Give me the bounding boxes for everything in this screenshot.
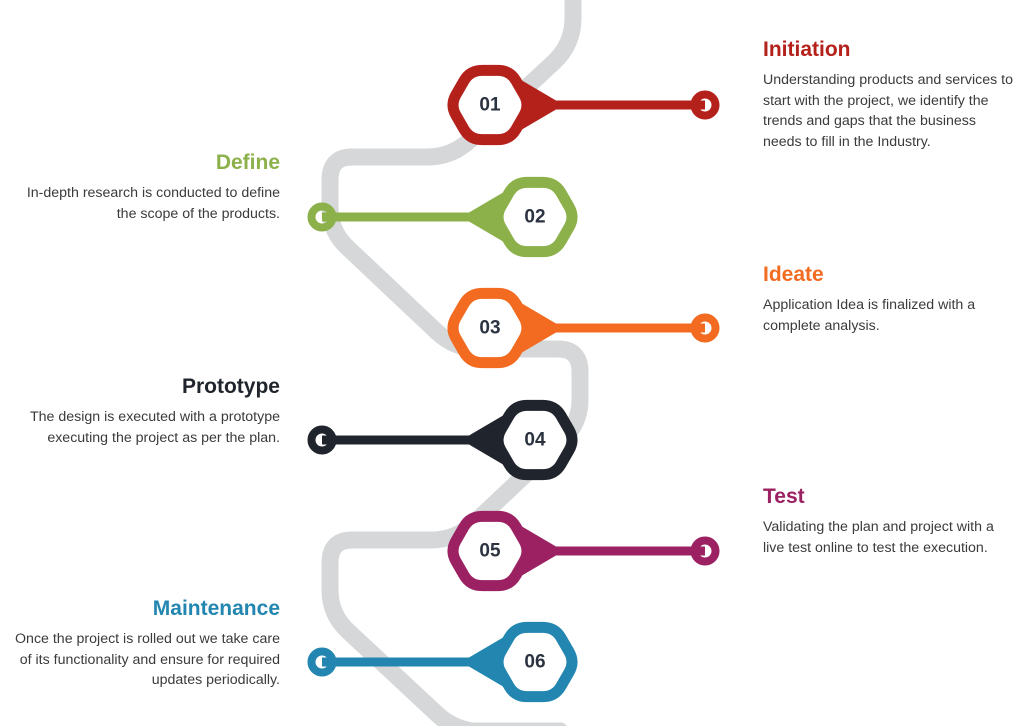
step-text-3: Ideate Application Idea is finalized wit… bbox=[763, 263, 1015, 336]
step-node-04[interactable]: 04 bbox=[312, 405, 573, 474]
step-title-5: Test bbox=[763, 485, 1015, 508]
step-title-2: Define bbox=[8, 151, 280, 174]
step-node-01[interactable]: 01 bbox=[453, 70, 716, 139]
step-title-6: Maintenance bbox=[8, 597, 280, 620]
step-number-label: 05 bbox=[479, 541, 501, 562]
step-title-4: Prototype bbox=[8, 375, 280, 398]
step-body-1: Understanding products and services to s… bbox=[763, 70, 1015, 152]
step-number-label: 03 bbox=[479, 318, 500, 339]
step-number-label: 01 bbox=[479, 95, 501, 116]
step-body-6: Once the project is rolled out we take c… bbox=[8, 629, 280, 691]
step-node-05[interactable]: 05 bbox=[453, 516, 716, 585]
step-node-03[interactable]: 03 bbox=[453, 293, 716, 362]
step-title-1: Initiation bbox=[763, 38, 1015, 61]
step-text-2: Define In-depth research is conducted to… bbox=[8, 151, 280, 224]
step-text-5: Test Validating the plan and project wit… bbox=[763, 485, 1015, 558]
step-text-4: Prototype The design is executed with a … bbox=[8, 375, 280, 448]
step-body-5: Validating the plan and project with a l… bbox=[763, 517, 1015, 558]
step-text-6: Maintenance Once the project is rolled o… bbox=[8, 597, 280, 691]
infographic-canvas: 010203040506 Initiation Understanding pr… bbox=[0, 0, 1024, 726]
step-number-label: 04 bbox=[524, 430, 546, 451]
step-title-3: Ideate bbox=[763, 263, 1015, 286]
step-body-2: In-depth research is conducted to define… bbox=[8, 183, 280, 224]
step-body-3: Application Idea is finalized with a com… bbox=[763, 295, 1015, 336]
step-number-label: 06 bbox=[524, 652, 545, 673]
step-text-1: Initiation Understanding products and se… bbox=[763, 38, 1015, 152]
step-number-label: 02 bbox=[524, 207, 545, 228]
step-body-4: The design is executed with a prototype … bbox=[8, 407, 280, 448]
